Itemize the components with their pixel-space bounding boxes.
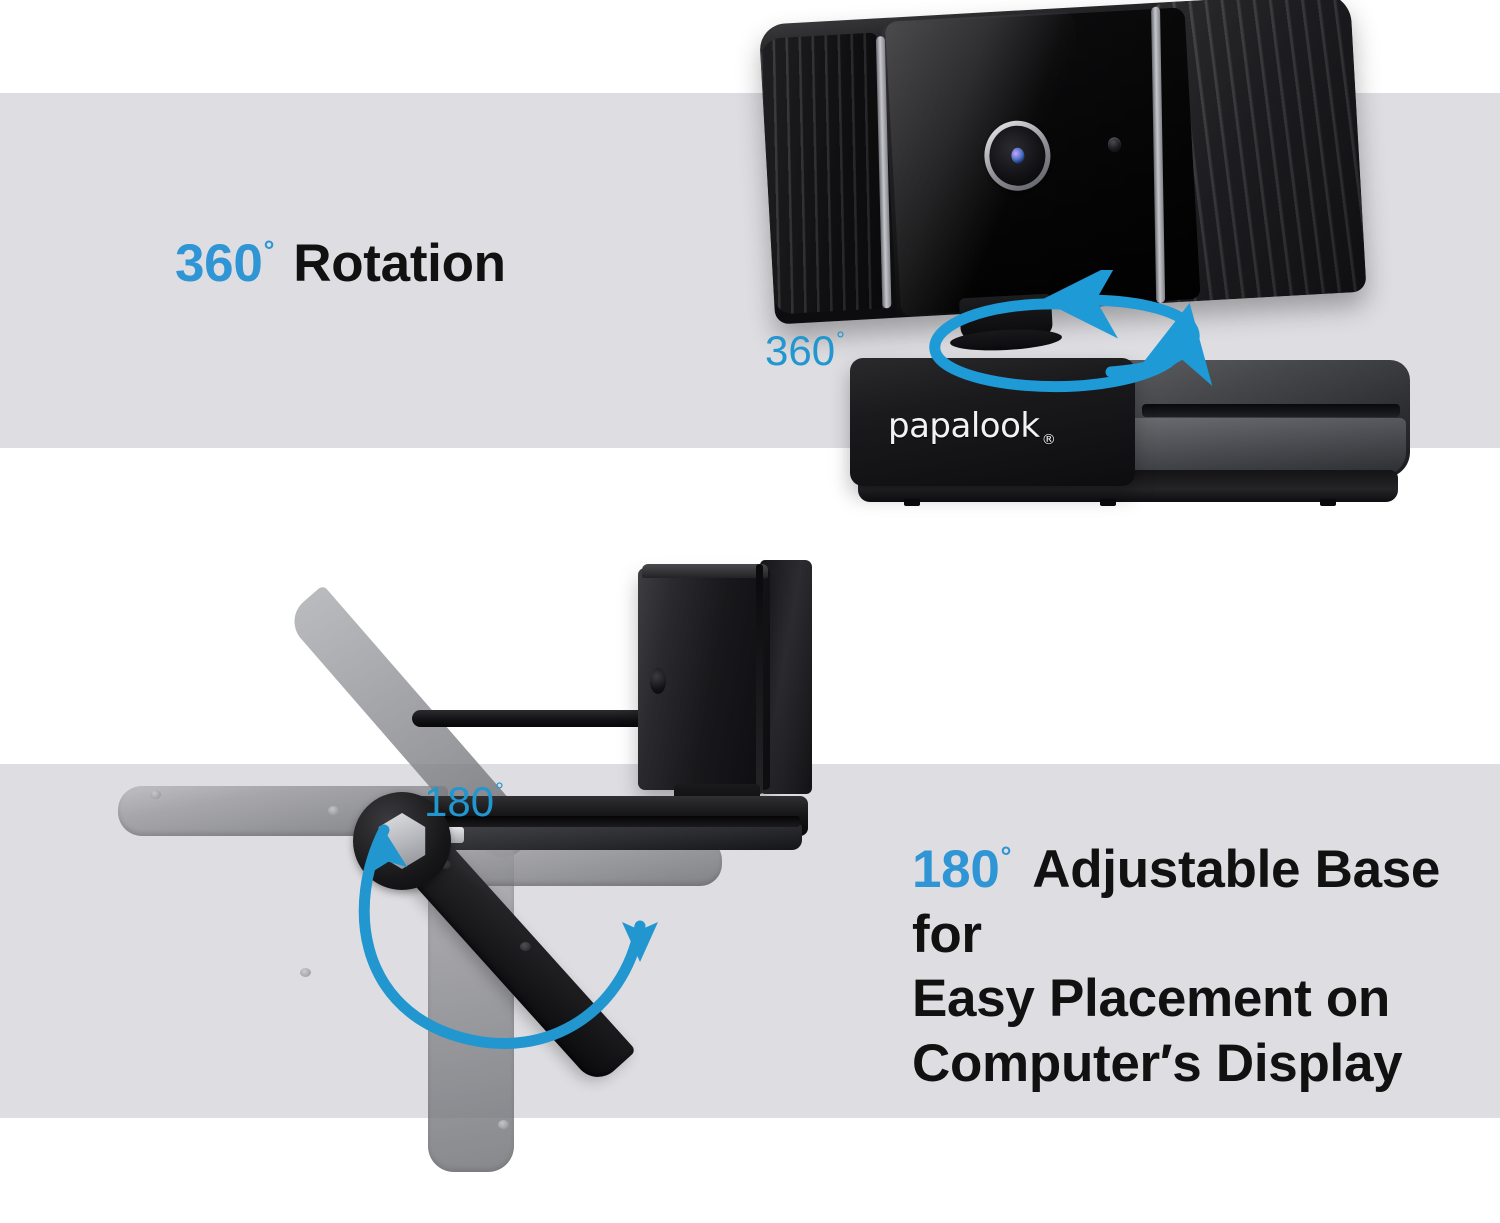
lens-inner xyxy=(988,124,1047,187)
clip-lip xyxy=(1132,418,1406,476)
webcam-top-edge xyxy=(642,564,768,578)
degree-symbol-icon: ° xyxy=(836,327,845,352)
degree-symbol-icon: ° xyxy=(1001,841,1012,872)
leg-screw xyxy=(498,1120,509,1129)
clip-foot xyxy=(1100,499,1116,506)
papalook-brand-logo: papalook® xyxy=(888,406,1098,446)
headline-180-adjustable-base: 180°Adjustable Base for Easy Placement o… xyxy=(912,838,1457,1097)
callout-180-degrees: 180° xyxy=(424,778,503,826)
leg-screw xyxy=(150,790,161,799)
callout-360-value: 360 xyxy=(765,327,835,374)
ribbed-wing-left xyxy=(759,32,892,314)
infographic-canvas: 360°Rotation xyxy=(0,0,1500,1223)
clip-foot xyxy=(1320,499,1336,506)
side-port-hole-icon xyxy=(650,668,666,694)
degree-symbol-icon: ° xyxy=(495,778,504,803)
webcam-illustration-top: papalook® xyxy=(745,0,1445,545)
headline-360-rotation: 360°Rotation xyxy=(175,233,506,294)
degree-symbol-icon: ° xyxy=(264,235,275,266)
headline-360-degrees: 360 xyxy=(175,234,263,293)
double-headed-arc-arrow-icon xyxy=(290,766,730,1096)
headline-180-line3: Computer′s Display xyxy=(912,1034,1402,1093)
clip-slot xyxy=(1142,404,1400,417)
lens-pupil xyxy=(1011,147,1025,164)
circular-rotation-arrow-icon xyxy=(915,270,1215,400)
headline-180-line2: Easy Placement on xyxy=(912,969,1390,1028)
headline-180-degrees: 180 xyxy=(912,840,1000,899)
usb-cable xyxy=(412,710,648,727)
callout-180-value: 180 xyxy=(424,778,494,825)
registered-mark-icon: ® xyxy=(1042,432,1056,448)
clip-foot xyxy=(904,499,920,506)
brand-logo-text: papalook xyxy=(888,406,1040,446)
webcam-seam xyxy=(756,564,763,794)
callout-360-degrees: 360° xyxy=(765,327,844,375)
headline-360-label: Rotation xyxy=(293,234,506,293)
adjustable-base-illustration xyxy=(90,560,950,1220)
